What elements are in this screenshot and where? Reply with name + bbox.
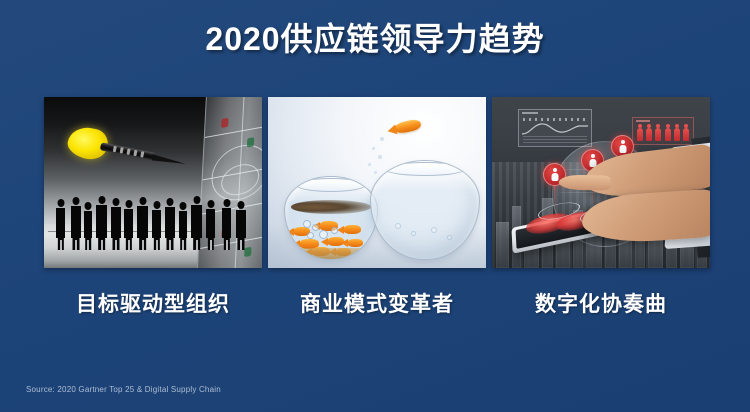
- crowded-fishbowl: [284, 176, 378, 260]
- caption-row: 目标驱动型组织 商业模式变革者 数字化协奏曲: [44, 288, 710, 318]
- hologram-people-panel: [632, 117, 694, 145]
- image-card-digital-symphony[interactable]: [492, 97, 710, 268]
- source-attribution: Source: 2020 Gartner Top 25 & Digital Su…: [26, 385, 221, 394]
- caption-digital-symphony: 数字化协奏曲: [492, 288, 710, 318]
- image-card-row: [44, 97, 710, 268]
- algae-muck: [291, 200, 372, 214]
- hologram-chart-panel: [518, 109, 592, 147]
- goldfish-jumping-bowls-photo: [268, 97, 486, 268]
- caption-purpose-driven-organization: 目标驱动型组织: [44, 288, 262, 318]
- jumping-goldfish-icon: [393, 118, 422, 134]
- bowl-rim: [296, 178, 366, 192]
- caption-business-model-transformer: 商业模式变革者: [268, 288, 486, 318]
- image-card-purpose-driven-organization[interactable]: [44, 97, 262, 268]
- image-card-business-model-transformer[interactable]: [268, 97, 486, 268]
- people-silhouettes: [54, 182, 204, 238]
- page-title: 2020供应链领导力趋势: [0, 14, 750, 60]
- index-finger: [559, 175, 611, 191]
- bowl-rim: [384, 162, 466, 176]
- dart-tip: [152, 154, 187, 166]
- dart-and-silhouettes-photo: [44, 97, 262, 268]
- tablet-hologram-city-photo: [492, 97, 710, 268]
- dart-icon: [64, 120, 195, 183]
- slide-canvas: 2020供应链领导力趋势: [0, 0, 750, 412]
